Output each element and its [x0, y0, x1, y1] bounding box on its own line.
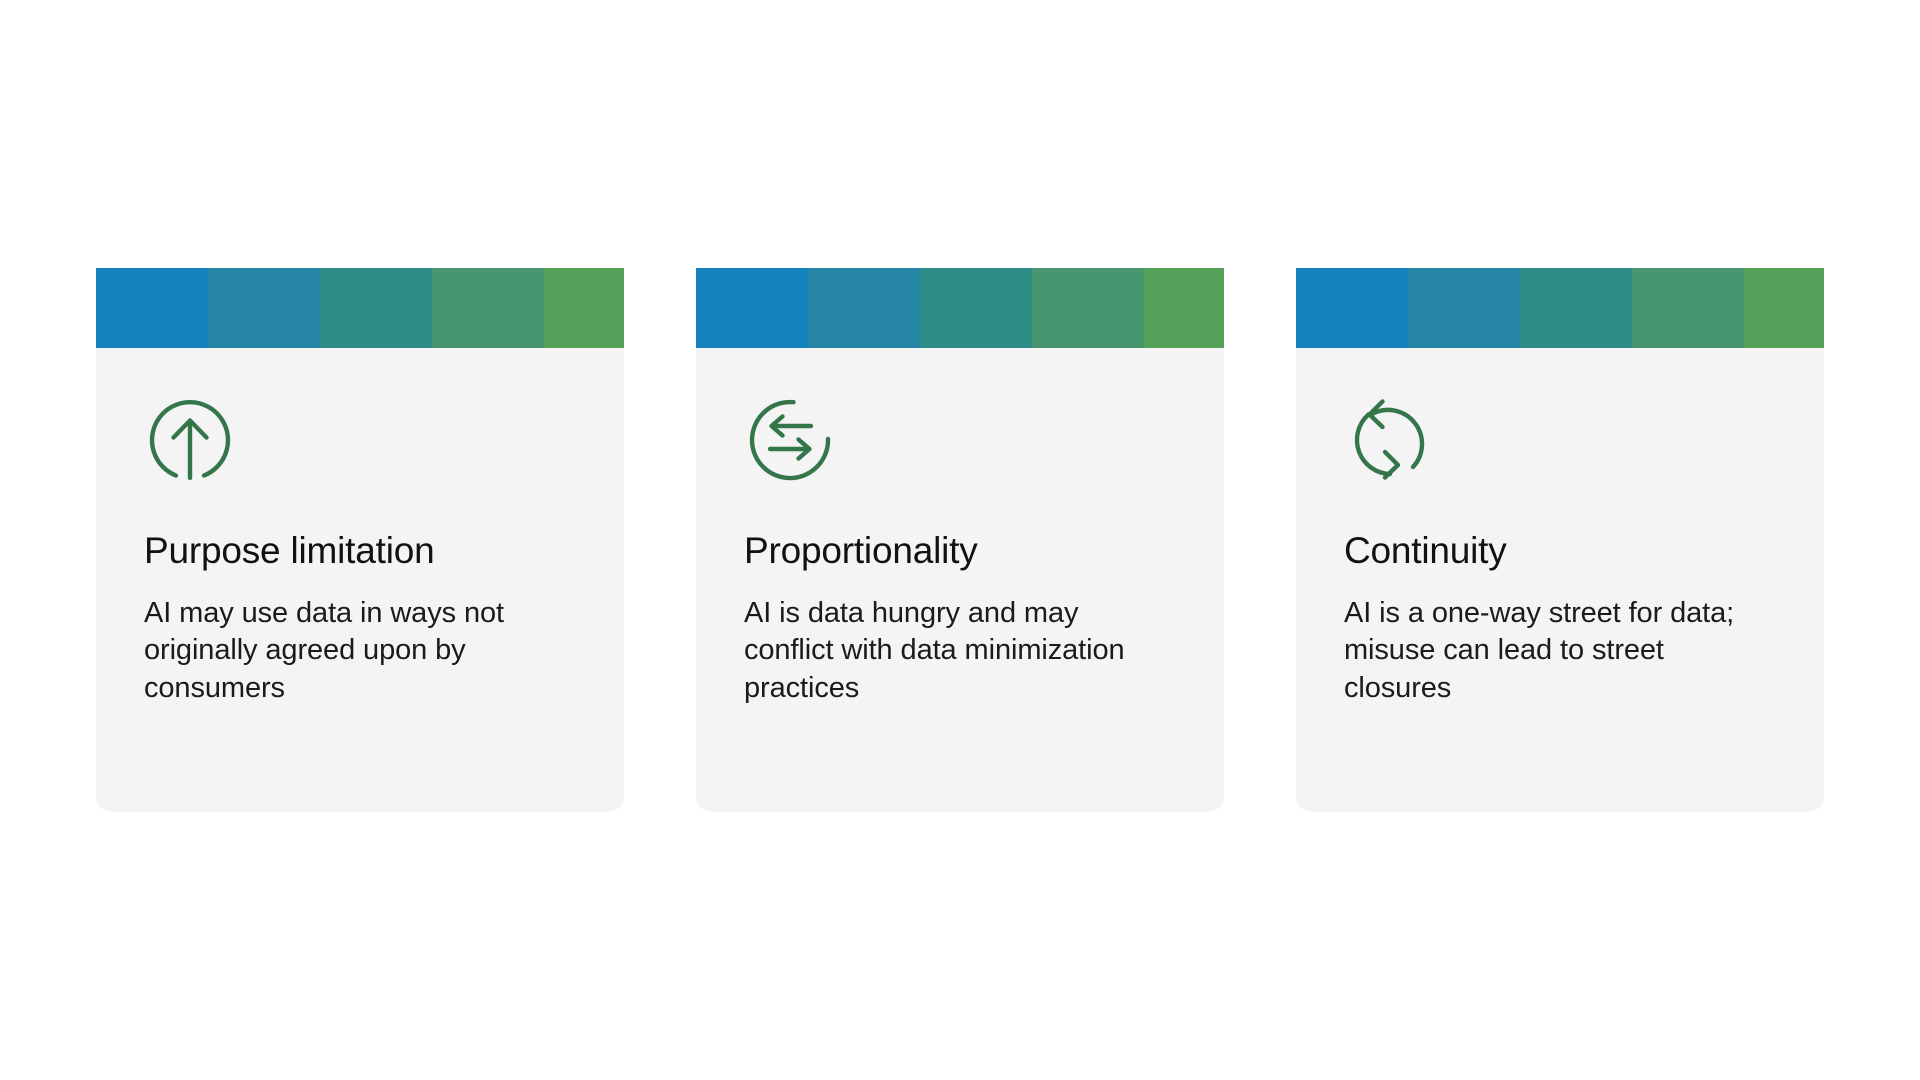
color-bar-segment — [320, 268, 432, 348]
circular-refresh-arrows-icon — [1344, 394, 1436, 486]
color-bar-segment — [1520, 268, 1632, 348]
card-description: AI may use data in ways not originally a… — [144, 595, 574, 708]
color-bar-segment — [544, 268, 624, 348]
color-bar-segment — [696, 268, 808, 348]
card-title: Continuity — [1344, 530, 1776, 573]
card-continuity: Continuity AI is a one-way street for da… — [1296, 268, 1824, 812]
color-bar-segment — [1296, 268, 1408, 348]
color-bar-segment — [208, 268, 320, 348]
card-description: AI is a one-way street for data; misuse … — [1344, 595, 1774, 708]
color-bar-segment — [432, 268, 544, 348]
card-group: Purpose limitation AI may use data in wa… — [96, 268, 1824, 812]
color-bar-segment — [1632, 268, 1744, 348]
color-bar-segment — [1144, 268, 1224, 348]
color-bar-segment — [96, 268, 208, 348]
two-way-arrows-in-circle-icon — [744, 394, 836, 486]
card-proportionality: Proportionality AI is data hungry and ma… — [696, 268, 1224, 812]
card-body: Purpose limitation AI may use data in wa… — [96, 348, 624, 748]
color-bar-segment — [1408, 268, 1520, 348]
arrow-up-in-open-circle-icon — [144, 394, 236, 486]
card-title: Purpose limitation — [144, 530, 576, 573]
card-purpose-limitation: Purpose limitation AI may use data in wa… — [96, 268, 624, 812]
color-bar — [1296, 268, 1824, 348]
card-body: Proportionality AI is data hungry and ma… — [696, 348, 1224, 748]
color-bar — [696, 268, 1224, 348]
color-bar-segment — [920, 268, 1032, 348]
color-bar-segment — [808, 268, 920, 348]
color-bar-segment — [1744, 268, 1824, 348]
color-bar — [96, 268, 624, 348]
card-title: Proportionality — [744, 530, 1176, 573]
card-description: AI is data hungry and may conflict with … — [744, 595, 1174, 708]
color-bar-segment — [1032, 268, 1144, 348]
card-body: Continuity AI is a one-way street for da… — [1296, 348, 1824, 748]
